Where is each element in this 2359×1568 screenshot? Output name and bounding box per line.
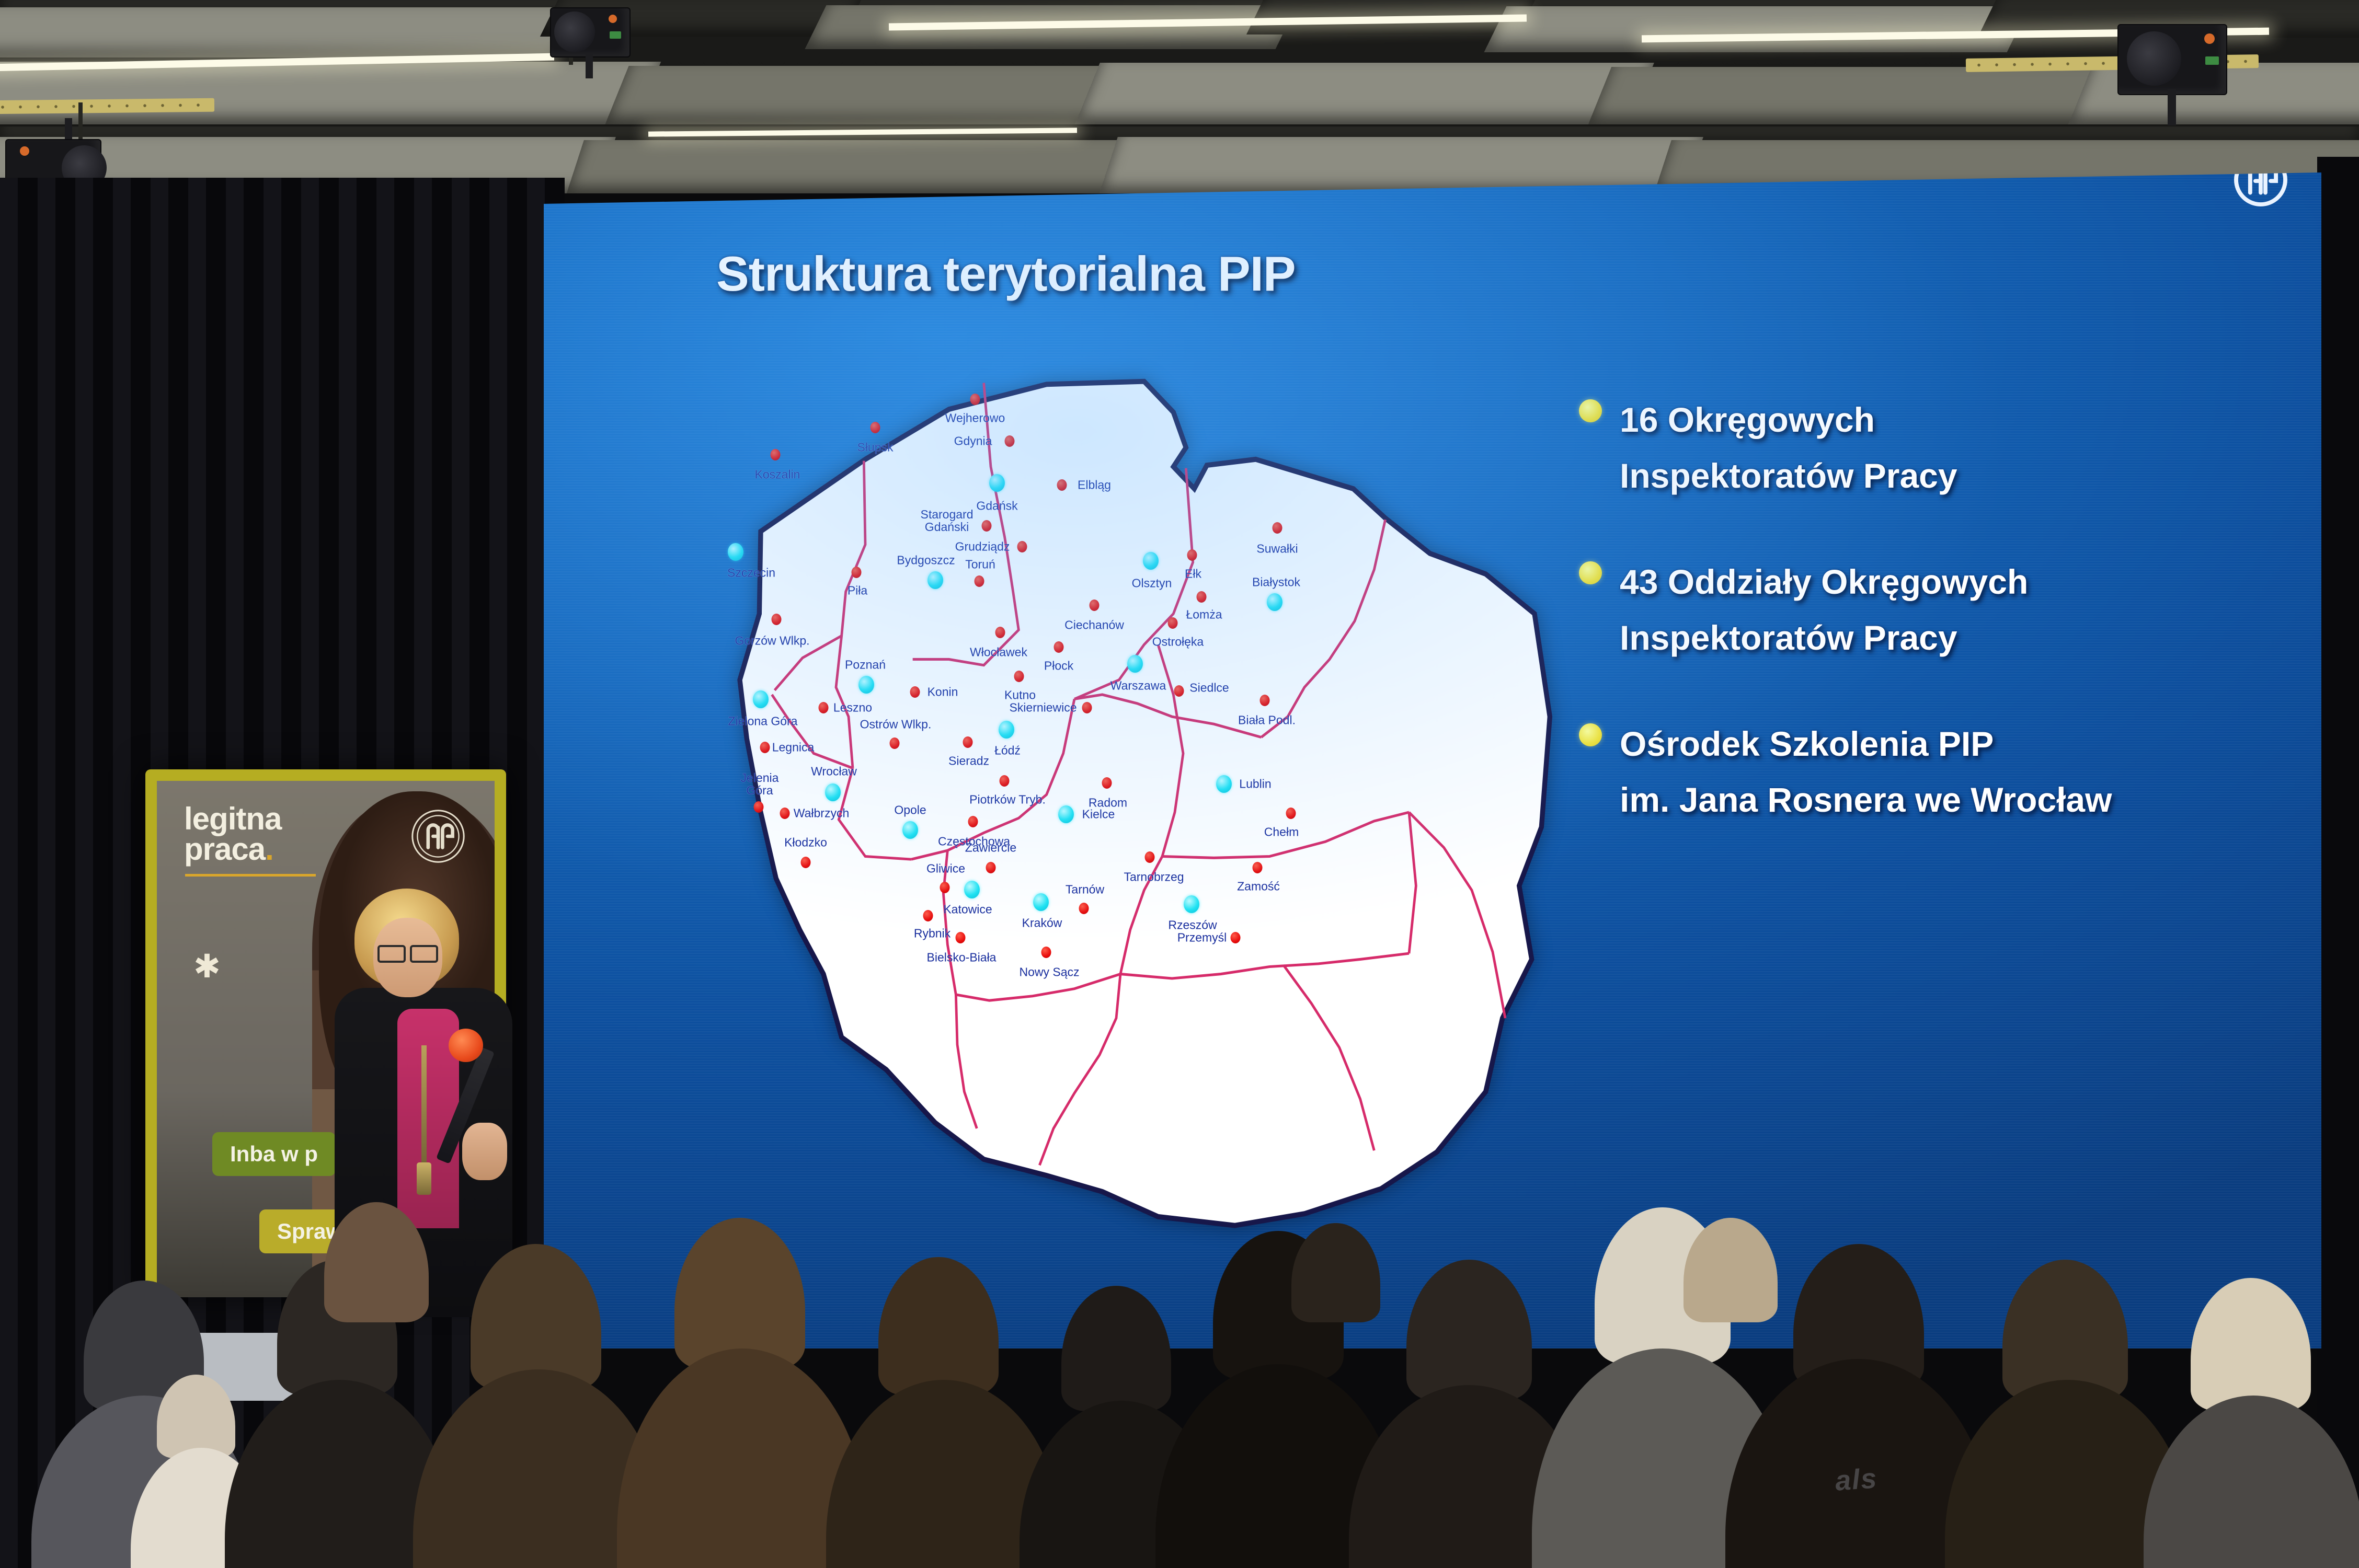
city-label: Wejherowo bbox=[945, 411, 1005, 425]
banner-brand: legitna praca. bbox=[184, 804, 281, 864]
city-label: Piotrków Tryb. bbox=[969, 793, 1046, 807]
branch-dot bbox=[1041, 947, 1051, 958]
city-label: Kraków bbox=[1022, 916, 1062, 930]
city-label: Przemyśl bbox=[1177, 931, 1227, 945]
city-label: Elbląg bbox=[1078, 478, 1111, 492]
branch-dot bbox=[1260, 695, 1270, 706]
list-item: 43 Oddziały Okręgowych Inspektoratów Pra… bbox=[1579, 554, 2321, 666]
audience-head bbox=[2191, 1278, 2311, 1411]
city-label: Koszalin bbox=[755, 468, 800, 482]
branch-dot bbox=[890, 737, 900, 749]
branch-dot bbox=[956, 932, 966, 943]
city-label: Gdynia bbox=[954, 434, 992, 448]
audience-head bbox=[878, 1257, 999, 1396]
branch-dot bbox=[970, 394, 980, 405]
branch-dot bbox=[963, 736, 973, 748]
city-label: Rybnik bbox=[914, 927, 951, 941]
district-dot bbox=[1033, 893, 1049, 911]
branch-dot bbox=[1145, 851, 1155, 863]
city-label: Zamość bbox=[1237, 880, 1280, 894]
city-label: Ciechanów bbox=[1064, 618, 1124, 632]
branch-dot bbox=[1102, 777, 1112, 789]
conference-hall-photo: Struktura terytorialna PIP bbox=[0, 0, 2359, 1568]
branch-dot bbox=[1057, 479, 1067, 491]
audience-head bbox=[1406, 1260, 1532, 1401]
stage-spotlight bbox=[527, 0, 684, 92]
district-dot bbox=[1058, 805, 1074, 823]
city-label: Suwałki bbox=[1256, 542, 1298, 556]
city-label: Ostrów Wlkp. bbox=[860, 718, 932, 732]
city-label: Tarnobrzeg bbox=[1124, 870, 1184, 884]
branch-dot bbox=[1054, 641, 1064, 653]
city-label: Poznań bbox=[845, 658, 886, 672]
city-label: Olsztyn bbox=[1132, 577, 1172, 591]
district-dot bbox=[927, 571, 943, 589]
city-label: Biała Podl. bbox=[1238, 713, 1296, 728]
city-label: Kutno bbox=[1004, 688, 1036, 702]
poland-map: Wejherowo Słupsk Koszalin Gdynia Elbląg … bbox=[656, 371, 1576, 1239]
audience-shoulders bbox=[2144, 1396, 2359, 1568]
audience-head bbox=[674, 1218, 805, 1369]
bullet-line: 16 Okręgowych bbox=[1620, 392, 2321, 448]
asterisk-icon: ✱ bbox=[193, 953, 223, 983]
branch-dot bbox=[1168, 617, 1178, 629]
stage-spotlight bbox=[2081, 10, 2269, 131]
audience-head bbox=[324, 1202, 429, 1322]
city-label: StarogardGdański bbox=[920, 508, 973, 533]
district-dot bbox=[902, 821, 918, 839]
list-item: Ośrodek Szkolenia PIP im. Jana Rosnera w… bbox=[1579, 716, 2321, 828]
district-dot bbox=[728, 543, 743, 561]
bullet-line: 43 Oddziały Okręgowych bbox=[1620, 554, 2321, 610]
page-title: Struktura terytorialna PIP bbox=[716, 246, 1296, 302]
audience-silhouettes: als bbox=[0, 1171, 2359, 1568]
city-label: Leszno bbox=[833, 701, 872, 715]
city-label: Lublin bbox=[1239, 777, 1271, 791]
district-dot bbox=[999, 721, 1014, 739]
district-dot bbox=[989, 474, 1005, 492]
district-dot bbox=[1127, 655, 1143, 673]
city-label: Łomża bbox=[1186, 608, 1222, 622]
city-label: Siedlce bbox=[1189, 681, 1229, 695]
district-dot bbox=[964, 881, 980, 898]
branch-dot bbox=[975, 575, 984, 587]
city-label: Skierniewice bbox=[1009, 701, 1077, 715]
city-label: Kielce bbox=[1082, 808, 1115, 822]
bullet-dot-icon bbox=[1579, 399, 1602, 422]
branch-dot bbox=[754, 801, 764, 813]
hoodie-text: als bbox=[1834, 1462, 1879, 1497]
list-item: 16 Okręgowych Inspektoratów Pracy bbox=[1579, 392, 2321, 504]
city-label: Bydgoszcz bbox=[897, 554, 955, 568]
bullet-dot-icon bbox=[1579, 561, 1602, 584]
city-label: Ostrołęka bbox=[1152, 635, 1204, 649]
pip-logo-icon bbox=[2231, 172, 2290, 209]
city-label: Gliwice bbox=[926, 862, 965, 876]
branch-dot bbox=[1187, 549, 1197, 561]
branch-dot bbox=[1000, 775, 1010, 787]
audience-head bbox=[1061, 1286, 1171, 1411]
branch-dot bbox=[772, 614, 782, 625]
city-label: Szczecin bbox=[727, 566, 775, 580]
bullet-line: Ośrodek Szkolenia PIP bbox=[1620, 716, 2321, 772]
city-label: Piła bbox=[848, 584, 867, 598]
branch-dot bbox=[910, 686, 920, 698]
city-label: Konin bbox=[927, 685, 958, 699]
city-label: Sieradz bbox=[948, 754, 989, 768]
branch-dot bbox=[1273, 522, 1282, 534]
branch-dot bbox=[982, 520, 992, 532]
branch-dot bbox=[852, 567, 862, 578]
city-label: JeleniaGóra bbox=[741, 771, 779, 797]
poland-outline bbox=[740, 382, 1550, 1226]
branch-dot bbox=[940, 882, 950, 893]
branch-dot bbox=[819, 702, 829, 713]
city-label: Łódź bbox=[994, 744, 1021, 758]
branch-dot bbox=[1082, 702, 1092, 713]
audience-head bbox=[471, 1244, 601, 1390]
district-dot bbox=[1267, 593, 1282, 611]
city-label: Toruń bbox=[965, 558, 995, 572]
district-dot bbox=[825, 783, 841, 801]
city-label: Katowice bbox=[943, 903, 992, 917]
city-label: Włocławek bbox=[970, 645, 1027, 660]
branch-dot bbox=[986, 862, 996, 873]
ceiling bbox=[0, 0, 2359, 193]
branch-dot bbox=[1286, 808, 1296, 819]
branch-dot bbox=[968, 816, 978, 827]
city-label: Nowy Sącz bbox=[1019, 965, 1079, 979]
city-label: Grudziądz bbox=[955, 540, 1010, 554]
banner-brand-underline bbox=[185, 874, 316, 877]
district-dot bbox=[858, 676, 874, 694]
branch-dot bbox=[801, 857, 811, 868]
city-label: Warszawa bbox=[1110, 679, 1166, 693]
branch-dot bbox=[1014, 671, 1024, 682]
branch-dot bbox=[1197, 591, 1207, 603]
bullet-line: im. Jana Rosnera we Wrocław bbox=[1620, 772, 2321, 828]
city-label: Zielona Góra bbox=[728, 714, 798, 729]
city-label: Legnica bbox=[772, 741, 815, 755]
branch-dot bbox=[871, 422, 880, 433]
city-label: Kłodzko bbox=[784, 836, 827, 850]
branch-dot bbox=[1017, 541, 1027, 552]
bullet-line: Inspektoratów Pracy bbox=[1620, 448, 2321, 504]
city-label: Gorzów Wlkp. bbox=[735, 634, 809, 648]
branch-dot bbox=[1090, 599, 1100, 611]
branch-dot bbox=[780, 808, 790, 819]
branch-dot bbox=[995, 627, 1005, 638]
district-dot bbox=[1143, 552, 1159, 570]
speaker-necklace bbox=[421, 1045, 427, 1181]
branch-dot bbox=[1253, 862, 1263, 873]
branch-dot bbox=[760, 742, 770, 753]
city-label: Wrocław bbox=[811, 765, 857, 779]
bullet-list: 16 Okręgowych Inspektoratów Pracy 43 Odd… bbox=[1579, 392, 2321, 878]
city-label: Ełk bbox=[1185, 567, 1201, 581]
city-label: Chełm bbox=[1264, 825, 1299, 839]
city-label: Opole bbox=[894, 803, 926, 817]
city-label: Płock bbox=[1044, 659, 1073, 673]
branch-dot bbox=[1079, 903, 1089, 914]
city-label: Słupsk bbox=[857, 441, 893, 455]
city-label: Bielsko-Biała bbox=[927, 951, 997, 965]
city-label: Gdańsk bbox=[976, 499, 1017, 513]
district-dot bbox=[1184, 895, 1199, 913]
branch-dot bbox=[771, 449, 781, 460]
pip-logo-icon bbox=[407, 805, 469, 868]
microphone-windscreen-icon bbox=[449, 1029, 483, 1062]
bullet-dot-icon bbox=[1579, 723, 1602, 746]
district-dot bbox=[1216, 775, 1232, 793]
city-label: Tarnów bbox=[1066, 883, 1104, 897]
banner-bubble: Inba w p bbox=[212, 1132, 336, 1176]
bullet-line: Inspektoratów Pracy bbox=[1620, 610, 2321, 666]
city-label: Rzeszów bbox=[1168, 918, 1217, 932]
branch-dot bbox=[1174, 685, 1184, 697]
branch-dot bbox=[923, 910, 933, 921]
city-label: Białystok bbox=[1252, 575, 1300, 590]
branch-dot bbox=[1231, 932, 1241, 943]
glasses-icon bbox=[377, 945, 438, 959]
branch-dot bbox=[1005, 435, 1015, 447]
city-label: Zawiercie bbox=[965, 841, 1016, 855]
audience-head bbox=[1291, 1223, 1380, 1322]
city-label: Wałbrzych bbox=[794, 806, 850, 821]
district-dot bbox=[753, 690, 769, 708]
